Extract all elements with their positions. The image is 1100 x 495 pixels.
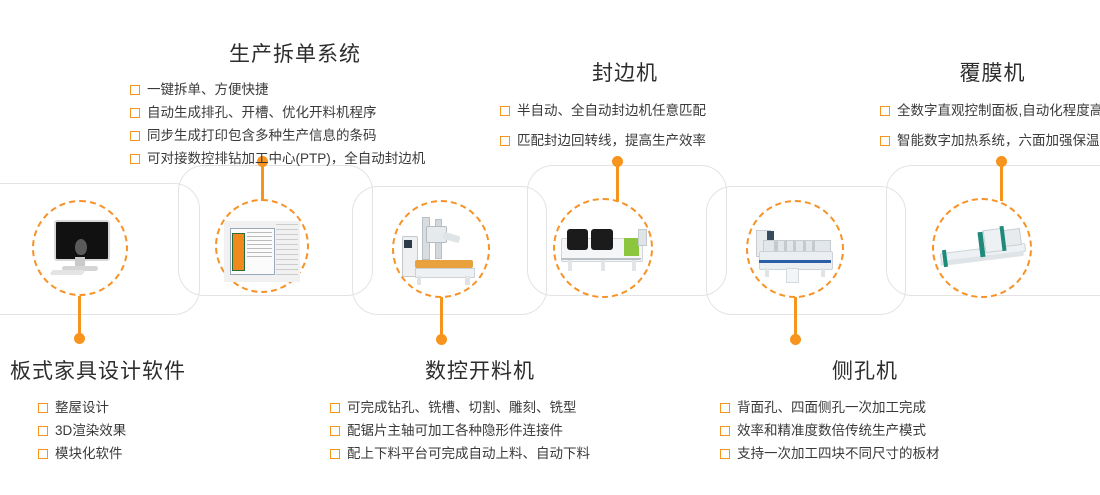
list-item: 3D渲染效果 <box>38 419 250 442</box>
connector-dot-6 <box>996 156 1007 167</box>
section-laminating-machine: 覆膜机 全数字直观控制面板,自动化程度高 智能数字加热系统，六面加强保温 <box>880 57 1100 152</box>
imac-computer-icon <box>34 202 126 294</box>
bullet-square-icon <box>38 449 48 459</box>
list-item: 配锯片主轴可加工各种隐形件连接件 <box>330 419 630 442</box>
list-item: 同步生成打印包含多种生产信息的条码 <box>130 124 460 147</box>
section-bullet-list: 半自动、全自动封边机任意匹配 匹配封边回转线，提高生产效率 <box>500 99 750 152</box>
section-title: 板式家具设计软件 <box>10 355 250 385</box>
section-title: 侧孔机 <box>720 355 1010 385</box>
process-flow-diagram: 生产拆单系统 一键拆单、方便快捷 自动生成排孔、开槽、优化开料机程序 同步生成打… <box>0 0 1100 495</box>
section-bullet-list: 全数字直观控制面板,自动化程度高 智能数字加热系统，六面加强保温 <box>880 99 1100 152</box>
section-edge-banding-machine: 封边机 半自动、全自动封边机任意匹配 匹配封边回转线，提高生产效率 <box>500 57 750 152</box>
section-production-split-order-system: 生产拆单系统 一键拆单、方便快捷 自动生成排孔、开槽、优化开料机程序 同步生成打… <box>130 38 460 170</box>
section-bullet-list: 整屋设计 3D渲染效果 模块化软件 <box>38 396 250 465</box>
connector-stem-5 <box>794 297 797 339</box>
bullet-square-icon <box>130 131 140 141</box>
bullet-square-icon <box>880 106 890 116</box>
section-side-hole-drilling-machine: 侧孔机 背面孔、四面侧孔一次加工完成 效率和精准度数倍传统生产模式 支持一次加工… <box>720 355 1010 465</box>
bullet-square-icon <box>330 426 340 436</box>
list-item: 效率和精准度数倍传统生产模式 <box>720 419 1010 442</box>
bullet-square-icon <box>720 449 730 459</box>
section-title: 数控开料机 <box>330 355 630 385</box>
list-item: 支持一次加工四块不同尺寸的板材 <box>720 442 1010 465</box>
list-item: 一键拆单、方便快捷 <box>130 78 460 101</box>
list-item: 可对接数控排钻加工中心(PTP)，全自动封边机 <box>130 147 460 170</box>
section-bullet-list: 一键拆单、方便快捷 自动生成排孔、开槽、优化开料机程序 同步生成打印包含多种生产… <box>130 78 460 170</box>
connector-dot-1 <box>74 333 85 344</box>
bullet-square-icon <box>720 403 730 413</box>
bullet-square-icon <box>38 426 48 436</box>
connector-stem-1 <box>78 296 81 338</box>
connector-stem-4 <box>616 161 619 201</box>
list-item: 模块化软件 <box>38 442 250 465</box>
bullet-square-icon <box>130 108 140 118</box>
list-item: 自动生成排孔、开槽、优化开料机程序 <box>130 101 460 124</box>
bullet-square-icon <box>330 449 340 459</box>
section-panel-furniture-design-software: 板式家具设计软件 整屋设计 3D渲染效果 模块化软件 <box>10 355 250 465</box>
bullet-square-icon <box>500 106 510 116</box>
list-item: 整屋设计 <box>38 396 250 419</box>
section-cnc-cutting-machine: 数控开料机 可完成钻孔、铣槽、切割、雕刻、铣型 配锯片主轴可加工各种隐形件连接件… <box>330 355 630 465</box>
computer-software-screenshot-icon <box>217 201 307 291</box>
laminating-machine-icon <box>934 200 1030 296</box>
connector-dot-3 <box>436 334 447 345</box>
connector-dot-5 <box>790 334 801 345</box>
connector-stem-6 <box>1000 161 1003 201</box>
node-side-hole-drilling-machine[interactable] <box>746 200 844 298</box>
node-panel-furniture-design-software[interactable] <box>32 200 128 296</box>
bullet-square-icon <box>38 403 48 413</box>
list-item: 可完成钻孔、铣槽、切割、雕刻、铣型 <box>330 396 630 419</box>
list-item: 背面孔、四面侧孔一次加工完成 <box>720 396 1010 419</box>
bullet-square-icon <box>720 426 730 436</box>
node-cnc-cutting-machine[interactable] <box>392 200 490 298</box>
list-item: 匹配封边回转线，提高生产效率 <box>500 129 750 152</box>
bullet-square-icon <box>130 154 140 164</box>
section-bullet-list: 可完成钻孔、铣槽、切割、雕刻、铣型 配锯片主轴可加工各种隐形件连接件 配上下料平… <box>330 396 630 465</box>
node-edge-banding-machine[interactable] <box>553 198 653 298</box>
node-production-split-order-system[interactable] <box>215 199 309 293</box>
section-bullet-list: 背面孔、四面侧孔一次加工完成 效率和精准度数倍传统生产模式 支持一次加工四块不同… <box>720 396 1010 465</box>
section-title: 生产拆单系统 <box>130 38 460 68</box>
node-laminating-machine[interactable] <box>932 198 1032 298</box>
list-item: 智能数字加热系统，六面加强保温 <box>880 129 1100 152</box>
connector-stem-3 <box>440 297 443 339</box>
connector-dot-4 <box>612 156 623 167</box>
section-title: 覆膜机 <box>880 57 1100 87</box>
cnc-router-icon <box>394 202 488 296</box>
list-item: 配上下料平台可完成自动上料、自动下料 <box>330 442 630 465</box>
edge-banding-machine-icon <box>555 200 651 296</box>
bullet-square-icon <box>880 136 890 146</box>
bullet-square-icon <box>500 136 510 146</box>
list-item: 全数字直观控制面板,自动化程度高 <box>880 99 1100 122</box>
bullet-square-icon <box>130 85 140 95</box>
side-drilling-machine-icon <box>748 202 842 296</box>
bullet-square-icon <box>330 403 340 413</box>
list-item: 半自动、全自动封边机任意匹配 <box>500 99 750 122</box>
section-title: 封边机 <box>500 57 750 87</box>
